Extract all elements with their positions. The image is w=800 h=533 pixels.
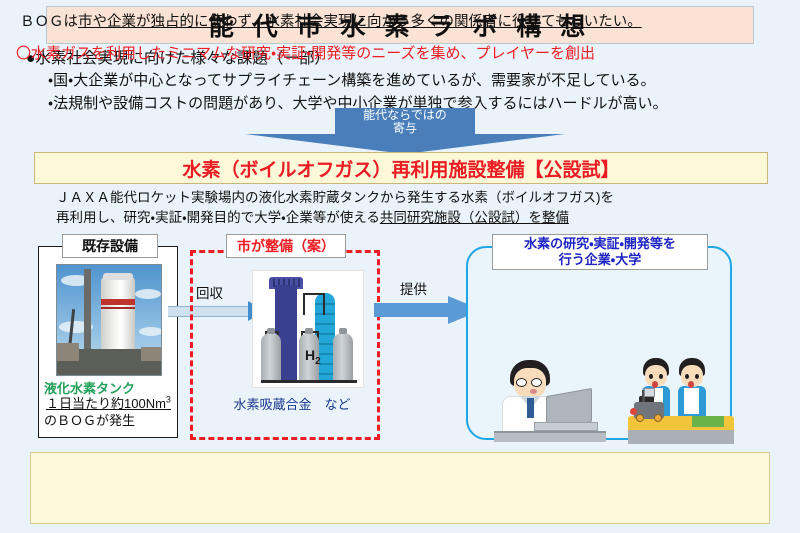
robot-flag [644,388,655,397]
users-label-line-1: 水素の研究・実証・開発等を [524,236,676,252]
gas-cylinder [261,333,281,381]
facility-desc-line-1: ＪＡＸＡ能代ロケット実験場内の液化水素貯蔵タンクから発生する水素（ボイルオフガス… [56,188,776,208]
students-robot-illustration [628,356,734,446]
issue-bullet-1: ・国・大企業が中心となってサプライチェーン構築を進めているが、需要家が不足してい… [26,70,786,93]
facility-banner-text: 水素（ボイルオフガス）再利用施設整備【公設試】 [182,155,619,182]
student-apron [684,388,699,414]
laptop-keyboard [534,422,598,431]
researcher-mouth [530,389,537,394]
facility-desc-line-2-plain: 再利用し、研究・実証・開発目的で大学・企業等が使える [56,210,380,225]
hydrogen-storage-alloy-illustration: H2 [252,270,364,388]
robot-track-green-zone [692,416,724,427]
slide-root: 能 代 市 水 素 ラ ボ 構 想 ●水素社会実現に向けた様々な課題（一部） ・… [0,0,800,533]
contribution-arrow-shape [245,134,565,154]
users-panel [466,246,732,440]
summary-line-2: 〇水素ガスを利用したミニマムな研究・実証・開発等のニーズを集め、プレイヤーを創出 [16,42,595,63]
cloud-icon [135,289,161,299]
summary-line-1-underlined: 市や企業が独占的に使わず、水素社会実現に向かう多くの関係者に役立てもらいたい。 [78,14,642,30]
plant-base [261,380,357,383]
h2-label-letter: H [305,347,315,363]
robot-wheel [654,414,662,422]
summary-box [30,452,770,524]
storage-tank-red-band-2 [101,307,135,309]
users-panel-label: 水素の研究・実証・開発等を 行う企業・大学 [492,234,708,270]
storage-tank-red-band [101,299,135,305]
researcher-glasses [516,378,527,387]
site-building [57,343,79,361]
facility-banner: 水素（ボイルオフガス）再利用施設整備【公設試】 [34,152,768,184]
site-building [141,347,162,361]
facility-description: ＪＡＸＡ能代ロケット実験場内の液化水素貯蔵タンクから発生する水素（ボイルオフガス… [56,188,776,229]
summary-line-1-plain: ＢＯＧは [20,14,78,30]
tank-bog-rate-unit-sup: 3 [166,395,171,405]
researcher-illustration [490,358,610,442]
existing-equipment-label: 既存設備 [62,234,158,258]
robot-indicator [630,408,637,415]
process-diagram: 既存設備 液化水素タンク １日当たり約100Nm3 のＢＯＧが発生 回収 [0,232,800,440]
summary-line-1: ＢＯＧは市や企業が独占的に使わず、水素社会実現に向かう多くの関係者に役立てもらい… [20,10,642,31]
plant-caption: 水素吸蔵合金 など [202,394,382,413]
student-mouth [652,381,658,388]
cloud-icon [139,327,162,336]
researcher-desk [494,431,606,442]
student-eye [659,374,663,379]
researcher-glasses [531,378,542,387]
student-eye [695,374,699,379]
researcher-tie [527,398,534,418]
storage-tank-cap [103,273,133,280]
connecting-pipe [303,293,325,315]
tank-bog-occurs: のＢＯＧが発生 [44,410,184,429]
facility-desc-line-2-underlined: 共同研究施設（公設試）を整備 [380,210,569,225]
student-eye [685,374,689,379]
gas-cylinder [333,333,353,381]
student-mouth [688,381,694,388]
liquid-hydrogen-tank-photo [56,264,162,376]
h2-label-subscript: 2 [315,356,321,367]
city-facility-label: 市が整備（案） [226,234,346,258]
h2-label: H2 [305,347,321,367]
contribution-arrow-label: 能代ならではの 寄与 [335,108,475,136]
supply-arrow-label: 提供 [400,278,427,298]
contribution-line-2: 寄与 [393,122,417,135]
robot-wheel [636,414,644,422]
tank-bog-rate-text: １日当たり約100Nm [46,396,166,411]
facility-desc-line-2: 再利用し、研究・実証・開発目的で大学・企業等が使える共同研究施設（公設試）を整備 [56,208,776,228]
student-eye [649,374,653,379]
users-label-line-2: 行う企業・大学 [559,252,641,268]
robot-table [628,430,734,444]
contribution-arrow: 能代ならではの 寄与 [245,108,565,154]
